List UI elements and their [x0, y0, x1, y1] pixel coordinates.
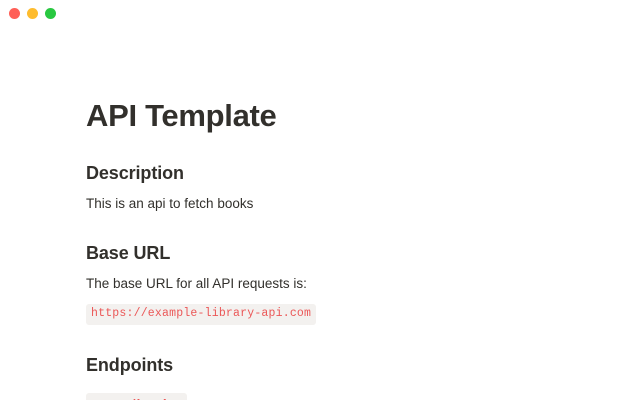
- base-url-code: https://example-library-api.com: [86, 304, 316, 325]
- window-titlebar: [0, 0, 640, 26]
- document-content: API Template Description This is an api …: [0, 99, 640, 400]
- section-heading-base-url: Base URL: [86, 243, 640, 265]
- page-title: API Template: [86, 99, 640, 133]
- section-heading-endpoints: Endpoints: [86, 355, 640, 377]
- minimize-button-icon[interactable]: [27, 8, 38, 19]
- maximize-button-icon[interactable]: [45, 8, 56, 19]
- endpoint-get-books-code: GET /books: [86, 393, 187, 400]
- section-heading-description: Description: [86, 163, 640, 185]
- close-button-icon[interactable]: [9, 8, 20, 19]
- traffic-light-controls: [9, 8, 56, 19]
- base-url-paragraph: The base URL for all API requests is:: [86, 274, 640, 294]
- toolbar-strip: [0, 26, 640, 40]
- description-paragraph: This is an api to fetch books: [86, 194, 640, 214]
- app-window: API Template Description This is an api …: [0, 0, 640, 400]
